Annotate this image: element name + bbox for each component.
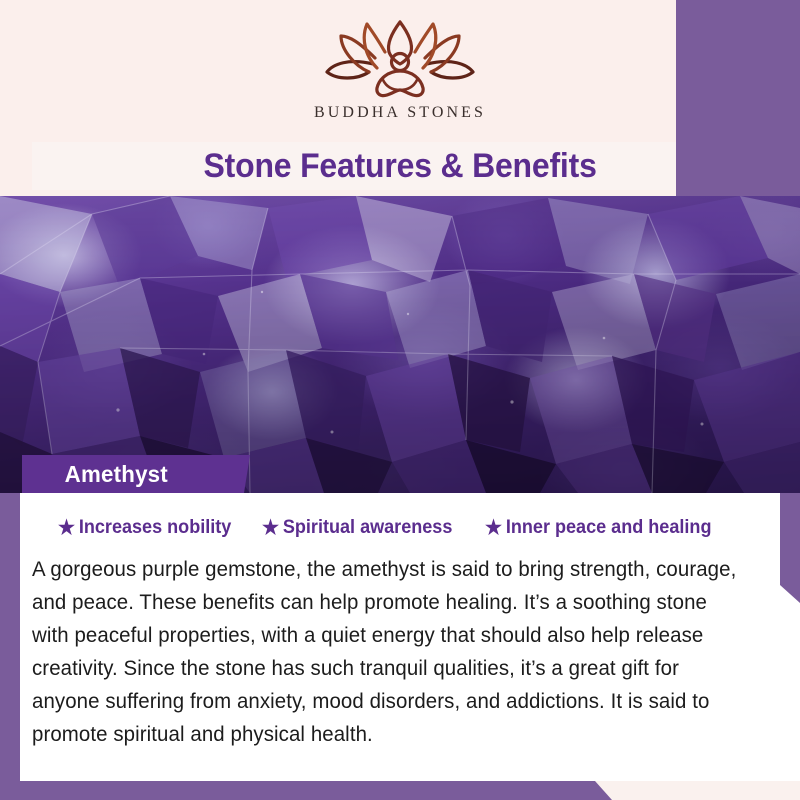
benefit-item-1: ★ Spiritual awareness bbox=[262, 517, 452, 539]
benefit-item-0: ★ Increases nobility bbox=[58, 517, 231, 539]
star-icon: ★ bbox=[485, 518, 502, 538]
benefit-label: Increases nobility bbox=[79, 517, 231, 539]
benefit-label: Spiritual awareness bbox=[283, 517, 453, 539]
frame-accent-top-right bbox=[676, 0, 800, 196]
stone-description-text: A gorgeous purple gemstone, the amethyst… bbox=[32, 553, 740, 751]
star-icon: ★ bbox=[262, 518, 279, 538]
star-icon: ★ bbox=[58, 518, 75, 538]
benefit-label: Inner peace and healing bbox=[506, 517, 712, 539]
benefits-list: ★ Increases nobility ★ Spiritual awarene… bbox=[20, 493, 780, 539]
stone-name-banner: Amethyst bbox=[22, 455, 250, 493]
stone-description-panel: ★ Increases nobility ★ Spiritual awarene… bbox=[20, 493, 780, 781]
brand-name: BUDDHA STONES bbox=[314, 104, 486, 122]
section-title-strip: Stone Features & Benefits bbox=[32, 142, 768, 190]
image-shading bbox=[0, 196, 800, 493]
benefit-item-2: ★ Inner peace and healing bbox=[485, 517, 711, 539]
frame-accent-left bbox=[0, 493, 20, 781]
product-info-card: BUDDHA STONES bbox=[0, 0, 800, 800]
frame-accent-right bbox=[780, 493, 800, 603]
page-title: Stone Features & Benefits bbox=[203, 147, 596, 186]
amethyst-hero-image bbox=[0, 196, 800, 493]
lotus-meditating-figure-logo-icon bbox=[315, 18, 485, 100]
stone-name-label: Amethyst bbox=[22, 461, 168, 488]
